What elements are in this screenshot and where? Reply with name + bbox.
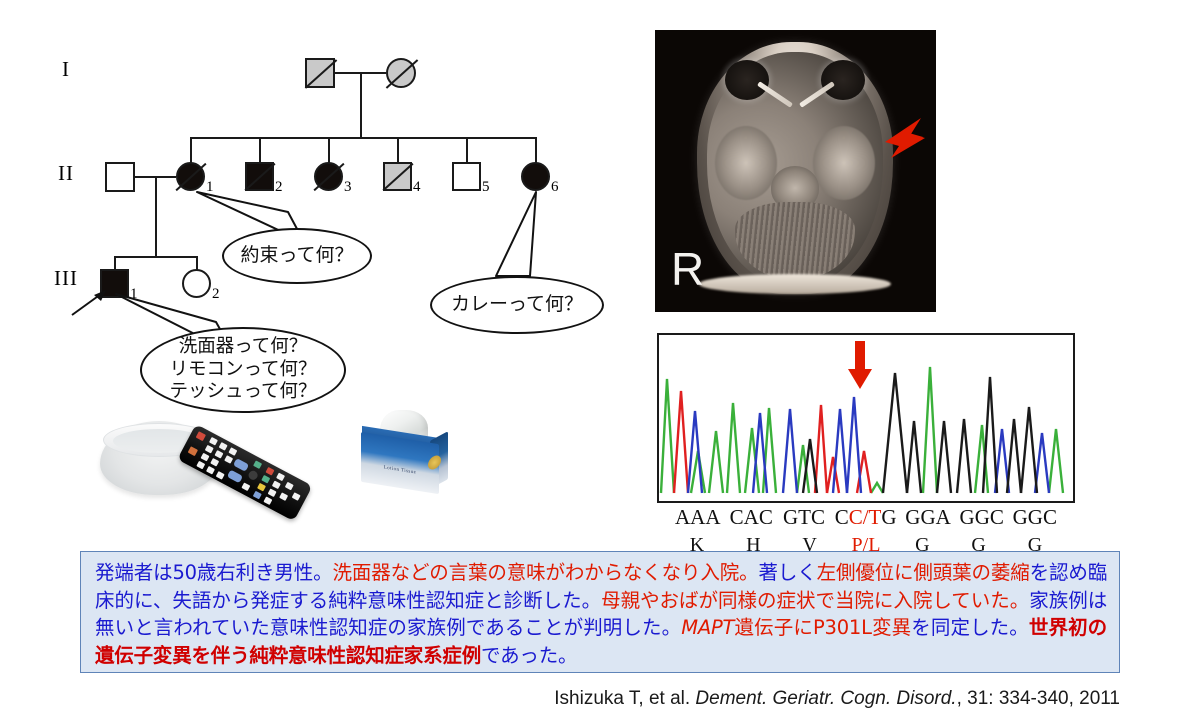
summary-seg-5: 母親やおばが同様の症状で当院に入院していた。 <box>601 589 1029 612</box>
tv-remote-photo <box>196 424 336 508</box>
slide-canvas: I II III 1 2 <box>0 0 1200 723</box>
descent-line-gen2 <box>155 176 157 257</box>
summary-seg-2: 著しく <box>759 561 817 584</box>
generation-label-1: I <box>62 57 70 82</box>
speech-bubble-ii6-text: カレーって何？ <box>451 293 583 316</box>
codon-3-mutant: CC/TG <box>835 505 897 530</box>
codon-4: GGA <box>905 505 951 530</box>
sibship-line-gen2 <box>190 137 535 139</box>
speech-bubble-iii1: 洗面器って何？ リモコンって何？ テッシュって何？ <box>140 327 346 413</box>
summary-seg-1: 洗面器などの言葉の意味がわからなくなり入院。 <box>332 561 758 584</box>
proband-arrow-icon <box>70 288 112 318</box>
sibship-line-gen3 <box>114 256 196 258</box>
sequencing-chromatogram <box>657 333 1075 503</box>
mri-red-arrow-icon <box>833 116 925 162</box>
codon-1: CAC <box>729 505 773 530</box>
case-summary-text: 発端者は50歳右利き男性。洗面器などの言葉の意味がわからなくなり入院。著しく左側… <box>95 559 1107 669</box>
codon-5: GGC <box>960 505 1004 530</box>
bubble-tail-ii6 <box>478 190 558 282</box>
codon-2: GTC <box>782 505 826 530</box>
summary-seg-3: 左側優位に側頭葉の萎縮 <box>817 561 1030 584</box>
speech-bubble-iii1-line3: テッシュって何？ <box>169 381 316 404</box>
codon-row-nucleotides: AAA CAC GTC CC/TG GGA GGC GGC <box>657 505 1075 530</box>
summary-seg-0: 発端者は50歳右利き男性。 <box>95 561 332 584</box>
pedigree-chart: I II III 1 2 <box>0 0 640 540</box>
codon-3-mutant-text: C/T <box>849 505 882 529</box>
summary-seg-11: であった。 <box>481 644 577 667</box>
descent-line-gen1 <box>360 72 362 138</box>
summary-seg-9: を同定した。 <box>911 616 1029 639</box>
citation-authors: Ishizuka T, et al. <box>554 688 690 709</box>
citation-journal: Dement. Geriatr. Cogn. Disord. <box>695 688 956 709</box>
codon-0: AAA <box>675 505 721 530</box>
pedigree-symbol-II-6 <box>521 162 550 191</box>
mri-panel: R <box>652 27 939 315</box>
sib-drop-III-1 <box>114 256 116 270</box>
pedigree-number-II-3: 3 <box>344 179 352 196</box>
mri-orientation-marker: R <box>671 246 704 292</box>
speech-bubble-ii1-text: 約束って何？ <box>240 244 353 267</box>
generation-label-2: II <box>58 161 74 186</box>
pedigree-number-II-4: 4 <box>413 179 421 196</box>
summary-seg-7-gene: MAPT <box>681 616 734 639</box>
codon-6: GGC <box>1013 505 1057 530</box>
summary-seg-8: 遺伝子にP301L変異 <box>734 616 911 639</box>
tissue-box-photo: Lotion Tissue <box>358 410 454 500</box>
chromatogram-red-arrow-icon <box>847 339 873 391</box>
citation-details: , 31: 334-340, 2011 <box>957 688 1120 709</box>
citation-line: Ishizuka T, et al. Dement. Geriatr. Cogn… <box>0 688 1120 710</box>
mri-axial-image: R <box>655 30 936 312</box>
pedigree-symbol-II-spouse <box>105 162 135 192</box>
pedigree-symbol-II-5 <box>452 162 481 191</box>
case-summary-box: 発端者は50歳右利き男性。洗面器などの言葉の意味がわからなくなり入院。著しく左側… <box>80 551 1120 673</box>
codon-translation-table: AAA CAC GTC CC/TG GGA GGC GGC K H V P/L … <box>657 505 1075 557</box>
speech-bubble-ii1: 約束って何？ <box>222 228 372 284</box>
speech-bubble-iii1-line1: 洗面器って何？ <box>179 336 308 359</box>
speech-bubble-ii6: カレーって何？ <box>430 276 604 334</box>
speech-bubble-iii1-line2: リモコンって何？ <box>169 359 316 382</box>
